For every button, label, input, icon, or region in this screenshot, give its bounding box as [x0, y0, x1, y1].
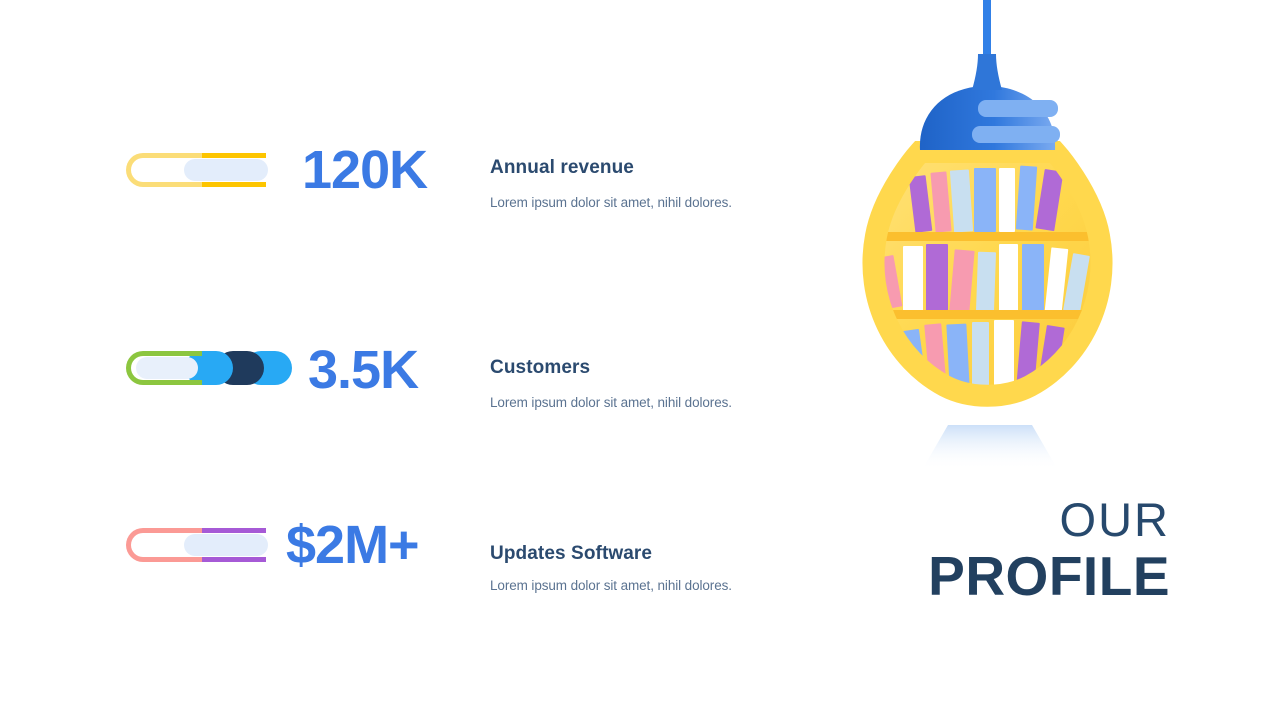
shelf-board-1	[878, 232, 1100, 241]
stat-value-1: 120K	[294, 143, 490, 197]
cap-band-2	[972, 126, 1060, 143]
stat-value-3: $2M+	[286, 518, 490, 572]
progress-bar-icon-2	[126, 351, 272, 397]
slide-root: 120K Annual revenue Lorem ipsum dolor si…	[0, 0, 1280, 720]
stat-description-2: Lorem ipsum dolor sit amet, nihil dolore…	[490, 394, 786, 412]
progress-bar-icon-1	[126, 153, 272, 199]
stat-item-customers[interactable]: 3.5K Customers Lorem ipsum dolor sit ame…	[126, 343, 786, 433]
cap-neck	[972, 54, 1002, 90]
heading-line-our: OUR	[928, 495, 1170, 544]
stat-title-3: Updates Software	[490, 543, 786, 566]
right-panel: OUR PROFILE	[800, 0, 1280, 720]
stat-value-2: 3.5K	[294, 343, 490, 397]
stat-title-1: Annual revenue	[490, 157, 786, 180]
lightbulb-illustration	[800, 0, 1280, 470]
bar-inner-fill-3	[184, 534, 268, 556]
page-title: OUR PROFILE	[928, 495, 1170, 606]
stat-description-1: Lorem ipsum dolor sit amet, nihil dolore…	[490, 194, 786, 212]
cap-band-1	[978, 100, 1058, 117]
stat-item-annual-revenue[interactable]: 120K Annual revenue Lorem ipsum dolor si…	[126, 143, 786, 233]
bar-inner-fill-2	[136, 357, 198, 379]
stat-title-2: Customers	[490, 357, 786, 380]
progress-bar-icon-3	[126, 528, 272, 574]
stat-text-block-2: Customers Lorem ipsum dolor sit amet, ni…	[490, 343, 786, 411]
stat-item-updates-software[interactable]: $2M+ Updates Software Lorem ipsum dolor …	[126, 518, 786, 608]
shelf-row-2-books	[878, 244, 1090, 313]
stat-text-block-1: Annual revenue Lorem ipsum dolor sit ame…	[490, 143, 786, 211]
bar-inner-fill-1	[184, 159, 268, 181]
shelf-board-2	[870, 310, 1110, 319]
stats-list: 120K Annual revenue Lorem ipsum dolor si…	[0, 0, 800, 720]
heading-line-profile: PROFILE	[928, 548, 1170, 606]
stat-text-block-3: Updates Software Lorem ipsum dolor sit a…	[490, 518, 786, 594]
stat-description-3: Lorem ipsum dolor sit amet, nihil dolore…	[490, 577, 786, 595]
light-beam	[922, 425, 1058, 470]
